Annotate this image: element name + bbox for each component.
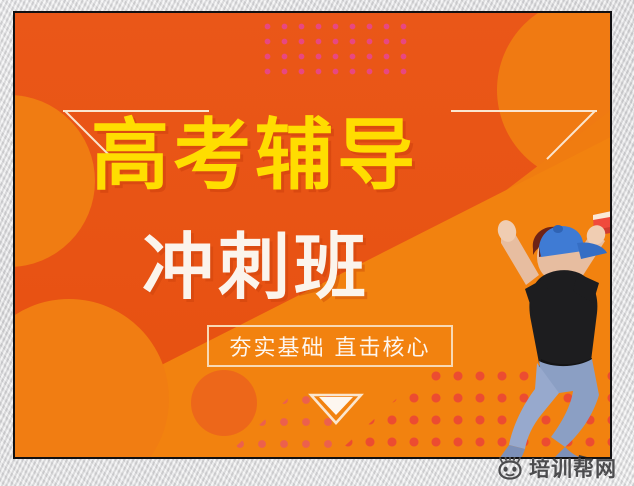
- subtitle-box: 夯实基础 直击核心: [207, 325, 453, 367]
- watermark-text: 培训帮网: [529, 459, 617, 480]
- image-canvas: 高考辅导 冲刺班 夯实基础 直击核心: [0, 0, 634, 486]
- headline-primary: 高考辅导: [15, 117, 495, 195]
- chevron-down-icon: [307, 393, 365, 425]
- watermark: 培训帮网: [497, 455, 617, 483]
- headline-secondary: 冲刺班: [15, 231, 497, 303]
- smiley-sun-icon: [497, 457, 523, 481]
- subtitle-text: 夯实基础 直击核心: [230, 330, 431, 362]
- poster-background: 高考辅导 冲刺班 夯实基础 直击核心: [15, 13, 610, 457]
- jumping-student-illustration: [481, 209, 610, 457]
- poster-frame: 高考辅导 冲刺班 夯实基础 直击核心: [13, 11, 612, 459]
